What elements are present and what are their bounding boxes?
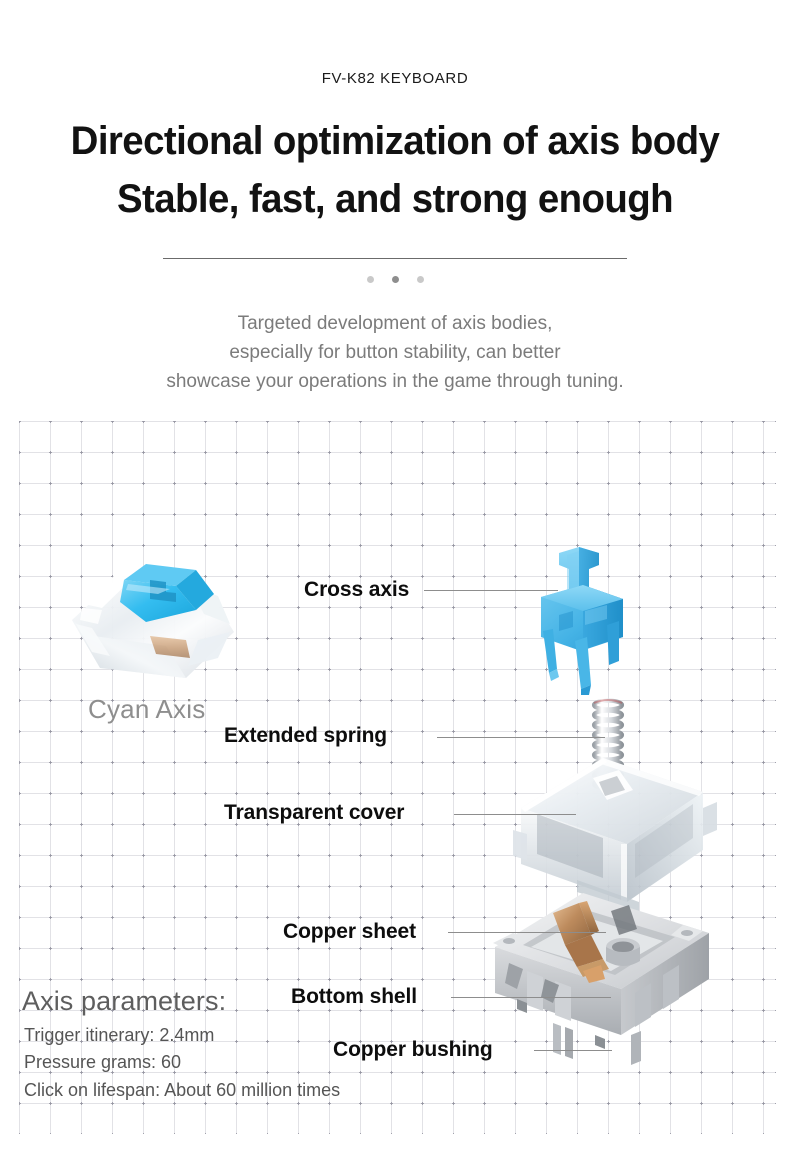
dot-2 (392, 276, 399, 283)
page-title: Directional optimization of axis body St… (16, 112, 774, 228)
parameter-click-lifespan: Click on lifespan: About 60 million time… (24, 1077, 340, 1104)
callout-label-extended-spring: Extended spring (224, 724, 387, 748)
intro-line-3: showcase your operations in the game thr… (0, 368, 790, 397)
page-title-line-1: Directional optimization of axis body (71, 119, 720, 163)
bottom-shell-art (487, 885, 737, 1075)
intro-line-1: Targeted development of axis bodies, (0, 310, 790, 339)
leader-line-bottom-shell (451, 997, 611, 998)
axis-parameters-list: Trigger itinerary: 2.4mm Pressure grams:… (24, 1022, 340, 1104)
parameter-trigger-itinerary: Trigger itinerary: 2.4mm (24, 1022, 340, 1049)
cyan-switch-photo (58, 528, 248, 693)
parameter-pressure-grams: Pressure grams: 60 (24, 1049, 340, 1076)
intro-paragraph: Targeted development of axis bodies, esp… (0, 310, 790, 397)
dot-3 (417, 276, 424, 283)
callout-label-transparent-cover: Transparent cover (224, 801, 404, 825)
leader-line-copper-sheet (448, 932, 606, 933)
dot-separator (0, 276, 790, 283)
product-infographic-page: FV-K82 KEYBOARD Directional optimization… (0, 0, 790, 1154)
leader-line-extended-spring (437, 737, 605, 738)
intro-line-2: especially for button stability, can bet… (0, 339, 790, 368)
header-divider (163, 258, 627, 259)
leader-line-cross-axis (424, 590, 558, 591)
leader-line-copper-bushing (534, 1050, 612, 1051)
callout-label-copper-bushing: Copper bushing (333, 1038, 493, 1062)
page-title-line-2: Stable, fast, and strong enough (16, 170, 774, 228)
axis-parameters-title: Axis parameters: (22, 986, 226, 1017)
cyan-axis-caption: Cyan Axis (88, 694, 205, 725)
callout-label-copper-sheet: Copper sheet (283, 920, 416, 944)
callout-label-cross-axis: Cross axis (304, 578, 409, 602)
callout-label-bottom-shell: Bottom shell (291, 985, 417, 1009)
product-model-eyebrow: FV-K82 KEYBOARD (0, 70, 790, 87)
leader-line-transparent-cover (454, 814, 576, 815)
cross-axis-stem-art (523, 545, 643, 695)
dot-1 (367, 276, 374, 283)
